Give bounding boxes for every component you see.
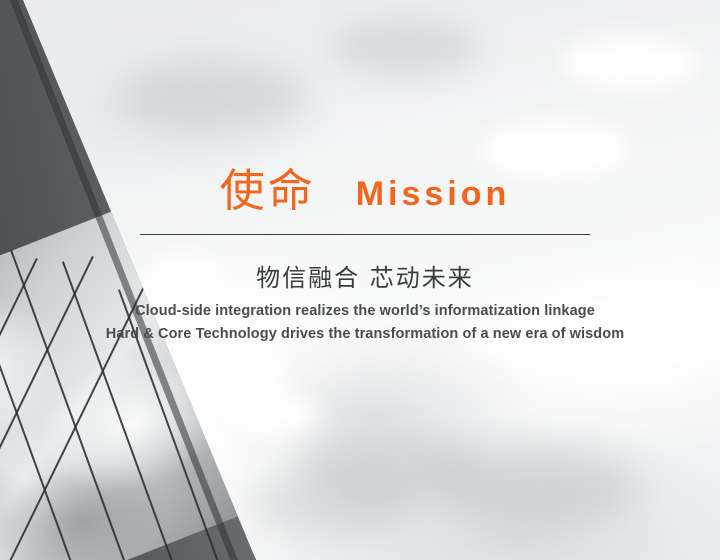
mission-banner: 使命 Mission 物信融合 芯动未来 Cloud-side integrat…: [0, 0, 720, 560]
title-english: Mission: [356, 177, 511, 213]
subtitle-chinese: 物信融合 芯动未来: [140, 258, 590, 293]
text-content: 使命 Mission 物信融合 芯动未来 Cloud-side integrat…: [0, 0, 720, 560]
subtitle-english-line-2: Hard & Core Technology drives the transf…: [60, 326, 670, 342]
subtitle-english-line-1: Cloud-side integration realizes the worl…: [60, 303, 670, 319]
title-chinese: 使命: [220, 168, 316, 213]
title-divider: [140, 234, 590, 235]
subtitle-english-block: Cloud-side integration realizes the worl…: [60, 303, 670, 349]
page-title: 使命 Mission: [140, 168, 590, 213]
